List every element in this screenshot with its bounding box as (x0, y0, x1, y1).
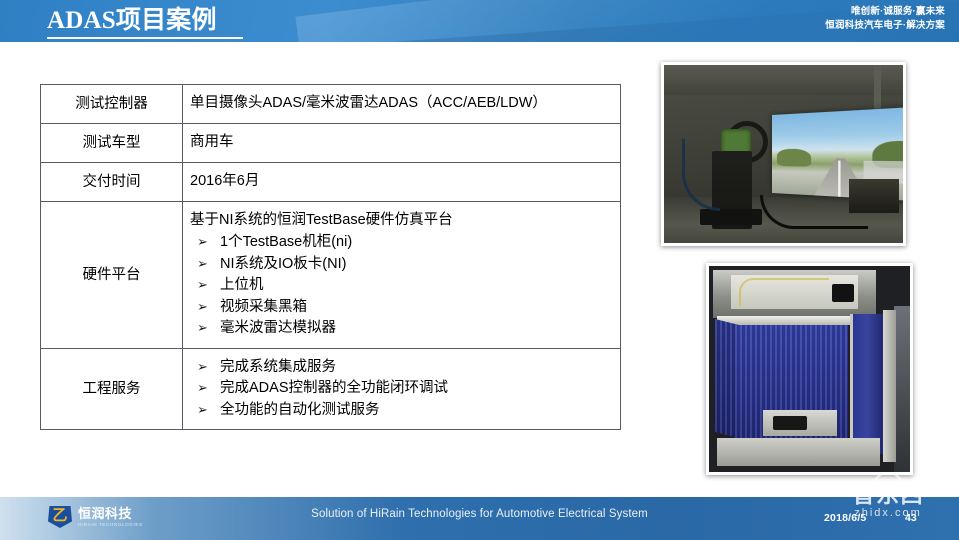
tagline-line-1: 唯创新·诚服务·赢未来 (825, 5, 945, 19)
row-label: 工程服务 (41, 375, 182, 403)
row-value: ➢ 完成系统集成服务 ➢ 完成ADAS控制器的全功能闭环调试 ➢ 全功能的自动化… (183, 349, 620, 430)
arrow-bullet-icon: ➢ (197, 254, 208, 276)
list-item-label: 视频采集黑箱 (220, 299, 307, 315)
side-equipment (849, 179, 899, 213)
list-item-label: 上位机 (220, 277, 264, 293)
logo-text-block: 恒润科技 HIRAIN TECHNOLOGIES (78, 507, 143, 528)
arrow-bullet-icon: ➢ (197, 400, 208, 422)
row-value-lead: 基于NI系统的恒润TestBase硬件仿真平台 (190, 210, 615, 231)
chamber-wiring (739, 278, 829, 306)
row-value: 商用车 (183, 124, 620, 162)
table-cell-value: ➢ 完成系统集成服务 ➢ 完成ADAS控制器的全功能闭环调试 ➢ 全功能的自动化… (183, 348, 621, 430)
list-item: ➢ 毫米波雷达模拟器 (190, 318, 615, 340)
table-cell-value: 商用车 (183, 124, 621, 163)
page-title: ADAS项目案例 (47, 5, 217, 37)
tagline-line-2: 恒润科技汽车电子·解决方案 (825, 19, 945, 33)
row-value-lead: 2016年6月 (190, 171, 615, 192)
logo-name-cn: 恒润科技 (78, 507, 143, 521)
chamber-door-panel (850, 314, 884, 454)
row-value-lead: 单目摄像头ADAS/毫米波雷达ADAS（ACC/AEB/LDW） (190, 93, 615, 114)
row-value: 基于NI系统的恒润TestBase硬件仿真平台 ➢ 1个TestBase机柜(n… (183, 202, 620, 348)
logo-name-en: HIRAIN TECHNOLOGIES (78, 521, 143, 528)
lab-ceiling (664, 65, 903, 95)
scene-road-marking (838, 161, 840, 197)
table-row: 测试车型 商用车 (41, 124, 621, 163)
radar-target-simulator (773, 416, 807, 430)
chamber-room-outside (894, 306, 910, 472)
engineering-service-list: ➢ 完成系统集成服务 ➢ 完成ADAS控制器的全功能闭环调试 ➢ 全功能的自动化… (190, 357, 615, 422)
spec-table: 测试控制器 单目摄像头ADAS/毫米波雷达ADAS（ACC/AEB/LDW） 测… (40, 84, 621, 430)
arrow-bullet-icon: ➢ (197, 232, 208, 254)
list-item-label: 毫米波雷达模拟器 (220, 320, 336, 336)
slide-page-number: 43 (905, 512, 917, 524)
photo-lab-test-bench (661, 62, 906, 246)
list-item: ➢ 全功能的自动化测试服务 (190, 400, 615, 422)
table-row: 交付时间 2016年6月 (41, 163, 621, 202)
arrow-bullet-icon: ➢ (197, 275, 208, 297)
table-cell-value: 基于NI系统的恒润TestBase硬件仿真平台 ➢ 1个TestBase机柜(n… (183, 202, 621, 349)
table-cell-label: 工程服务 (41, 348, 183, 430)
table-row: 工程服务 ➢ 完成系统集成服务 ➢ 完成ADAS控制器的全功能闭环调试 (41, 348, 621, 430)
chamber-floor (717, 438, 880, 466)
table-cell-label: 测试车型 (41, 124, 183, 163)
list-item-label: NI系统及IO板卡(NI) (220, 256, 346, 272)
table-cell-value: 单目摄像头ADAS/毫米波雷达ADAS（ACC/AEB/LDW） (183, 85, 621, 124)
table-cell-label: 测试控制器 (41, 85, 183, 124)
title-underline (47, 37, 243, 39)
list-item-label: 全功能的自动化测试服务 (220, 402, 380, 418)
table-cell-label: 交付时间 (41, 163, 183, 202)
list-item: ➢ NI系统及IO板卡(NI) (190, 254, 615, 276)
row-label: 测试车型 (41, 124, 182, 162)
table-row: 硬件平台 基于NI系统的恒润TestBase硬件仿真平台 ➢ 1个TestBas… (41, 202, 621, 349)
slide-footer: Solution of HiRain Technologies for Auto… (0, 497, 959, 540)
arrow-bullet-icon: ➢ (197, 378, 208, 400)
company-logo: 乙 恒润科技 HIRAIN TECHNOLOGIES (48, 506, 143, 528)
chamber-door-edge (883, 310, 896, 462)
row-label: 测试控制器 (41, 85, 182, 123)
list-item: ➢ 完成ADAS控制器的全功能闭环调试 (190, 378, 615, 400)
chamber-connector-box (832, 284, 854, 302)
list-item-label: 完成系统集成服务 (220, 359, 336, 375)
photo-anechoic-chamber (706, 263, 913, 475)
list-item: ➢ 1个TestBase机柜(ni) (190, 232, 615, 254)
footer-tagline: Solution of HiRain Technologies for Auto… (0, 508, 959, 520)
arrow-bullet-icon: ➢ (197, 318, 208, 340)
row-label: 硬件平台 (41, 261, 182, 289)
table-cell-value: 2016年6月 (183, 163, 621, 202)
table-cell-label: 硬件平台 (41, 202, 183, 349)
scene-tree-left (777, 149, 812, 167)
slide-date: 2018/6/5 (824, 512, 866, 524)
list-item-label: 1个TestBase机柜(ni) (220, 234, 352, 250)
hardware-platform-list: ➢ 1个TestBase机柜(ni) ➢ NI系统及IO板卡(NI) ➢ 上位机 (190, 232, 615, 340)
logo-glyph: 乙 (48, 507, 72, 525)
hirain-logo-icon: 乙 (48, 506, 72, 528)
arrow-bullet-icon: ➢ (197, 357, 208, 379)
arrow-bullet-icon: ➢ (197, 297, 208, 319)
company-tagline: 唯创新·诚服务·赢未来 恒润科技汽车电子·解决方案 (825, 5, 945, 33)
list-item: ➢ 上位机 (190, 275, 615, 297)
list-item: ➢ 视频采集黑箱 (190, 297, 615, 319)
row-value-lead: 商用车 (190, 132, 615, 153)
table-row: 测试控制器 单目摄像头ADAS/毫米波雷达ADAS（ACC/AEB/LDW） (41, 85, 621, 124)
row-label: 交付时间 (41, 163, 182, 201)
row-value: 2016年6月 (183, 163, 620, 201)
list-item-label: 完成ADAS控制器的全功能闭环调试 (220, 380, 448, 396)
list-item: ➢ 完成系统集成服务 (190, 357, 615, 379)
row-value: 单目摄像头ADAS/毫米波雷达ADAS（ACC/AEB/LDW） (183, 85, 620, 123)
rig-base-plate (700, 209, 762, 225)
slide-root: ADAS项目案例 唯创新·诚服务·赢未来 恒润科技汽车电子·解决方案 测试控制器… (0, 0, 959, 540)
